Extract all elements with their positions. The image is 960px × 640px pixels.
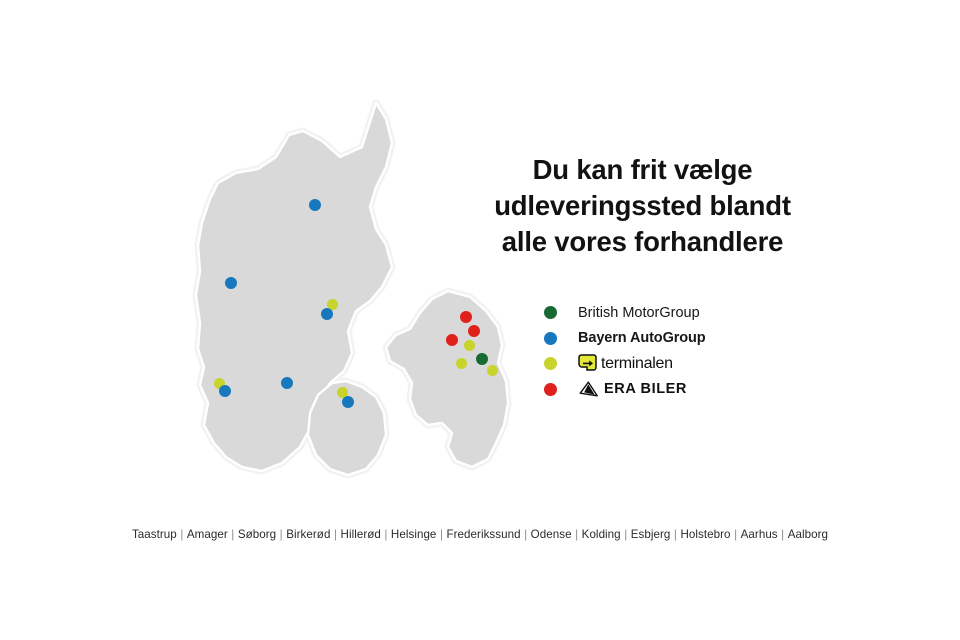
city-name: Taastrup [131,528,178,541]
city-name: Birkerød [285,528,331,541]
city-list: Taastrup|Amager|Søborg|Birkerød|Hillerød… [0,528,960,541]
terminalen-wordmark: terminalen [601,355,673,373]
city-separator: | [573,528,581,541]
city-name: Aalborg [787,528,829,541]
legend-item-era-biler[interactable]: ERA BILER [544,377,814,403]
city-name: Esbjerg [630,528,672,541]
dot-odense-b[interactable] [342,396,354,408]
dot-amager[interactable] [487,365,498,376]
city-name: Frederikssund [446,528,522,541]
city-name: Holstebro [679,528,731,541]
dot-soborg[interactable] [476,353,488,365]
legend-swatch-green-icon [544,306,557,319]
terminalen-mark-icon [578,354,597,373]
city-separator: | [437,528,445,541]
dot-birkerod[interactable] [464,340,475,351]
legend-swatch-red-icon [544,383,557,396]
headline-line-2: udleveringssted blandt [470,188,815,224]
terminalen-logo: terminalen [578,354,673,373]
city-name: Kolding [581,528,622,541]
denmark-map-shape [180,95,520,500]
page-title: Du kan frit vælge udleveringssted blandt… [470,152,815,260]
city-name: Odense [530,528,573,541]
city-name: Hillerød [340,528,382,541]
promo-graphic: Du kan frit vælge udleveringssted blandt… [0,0,960,640]
city-separator: | [622,528,630,541]
era-biler-mark-icon [578,381,599,398]
headline-line-1: Du kan frit vælge [470,152,815,188]
city-separator: | [779,528,787,541]
city-separator: | [178,528,186,541]
legend-swatch-blue-icon [544,332,557,345]
legend-item-british-motorgroup[interactable]: British MotorGroup [544,300,814,326]
dot-aarhus-b[interactable] [321,308,333,320]
city-separator: | [331,528,339,541]
dot-holstebro[interactable] [225,277,237,289]
era-biler-logo: ERA BILER [578,381,687,398]
legend-item-terminalen[interactable]: terminalen [544,351,814,377]
dealer-legend: British MotorGroup Bayern AutoGroup term… [544,300,814,402]
city-name: Amager [186,528,229,541]
dot-kolding[interactable] [281,377,293,389]
headline-line-3: alle vores forhandlere [470,224,815,260]
city-name: Helsinge [390,528,438,541]
city-name: Aarhus [740,528,779,541]
dot-esbjerg-b[interactable] [219,385,231,397]
denmark-map [180,95,520,500]
dot-taastrup[interactable] [456,358,467,369]
dot-hillerod[interactable] [468,325,480,337]
legend-label-bayern-autogroup: Bayern AutoGroup [578,330,706,346]
dot-aalborg[interactable] [309,199,321,211]
legend-item-bayern-autogroup[interactable]: Bayern AutoGroup [544,326,814,352]
city-separator: | [229,528,237,541]
city-separator: | [382,528,390,541]
dot-frederikssund[interactable] [446,334,458,346]
dot-helsinge[interactable] [460,311,472,323]
era-biler-wordmark: ERA BILER [604,381,687,397]
city-name: Søborg [237,528,277,541]
legend-label-british-motorgroup: British MotorGroup [578,305,700,321]
legend-swatch-yellow-icon [544,357,557,370]
city-separator: | [522,528,530,541]
city-separator: | [732,528,740,541]
